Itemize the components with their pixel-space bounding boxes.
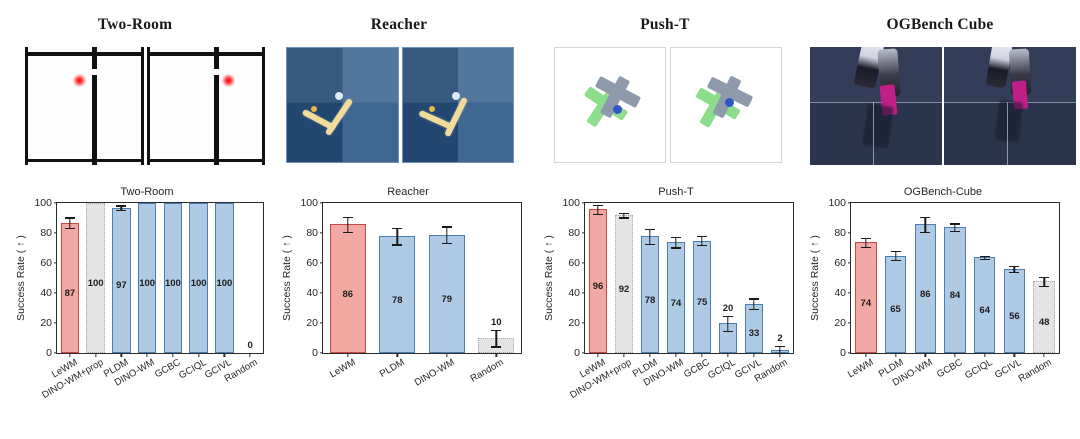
x-axis-label-gciql: GCIQL	[177, 357, 208, 381]
x-axis-label-gciql: GCIQL	[963, 357, 994, 381]
error-bar-cap	[392, 228, 402, 229]
error-bar	[753, 298, 754, 309]
error-bar-cap	[775, 346, 785, 347]
x-axis-label-pldm: PLDM	[378, 357, 407, 380]
y-axis-tick-mark	[320, 322, 324, 323]
bar-value-label: 100	[165, 278, 181, 289]
bar-value-label: 79	[441, 294, 452, 305]
x-axis-tick-mark	[597, 353, 598, 357]
x-axis-tick-mark	[1014, 353, 1015, 357]
chart-title: Two-Room	[24, 186, 270, 198]
goal-marker-icon	[73, 74, 86, 87]
bar-value-label: 78	[392, 295, 403, 306]
bar-value-label: 74	[671, 298, 682, 309]
error-bar-cap	[861, 247, 871, 248]
chart-title: Push-T	[552, 186, 800, 198]
y-axis-tick-mark	[320, 292, 324, 293]
x-axis-tick-mark	[925, 353, 926, 357]
cube-shadow	[994, 100, 1023, 143]
error-bar-cap	[1039, 277, 1049, 278]
error-bar-cap	[891, 251, 901, 252]
error-bar-cap	[749, 309, 759, 310]
x-axis-label-gciql: GCIQL	[706, 357, 737, 381]
y-axis-tick-mark	[848, 352, 852, 353]
error-bar-cap	[920, 217, 930, 218]
reacher-tip	[311, 106, 317, 112]
error-bar-cap	[980, 259, 990, 260]
x-axis-tick-mark	[623, 353, 624, 357]
bar-value-label: 84	[950, 290, 961, 301]
bar-value-label: 86	[342, 289, 353, 300]
bar-value-label: 10	[491, 317, 502, 328]
chart-title: OGBench-Cube	[814, 186, 1072, 198]
y-axis-tick-mark	[320, 262, 324, 263]
y-axis-tick-mark	[54, 352, 58, 353]
bar-value-label: 100	[88, 278, 104, 289]
reacher-tip	[429, 106, 435, 112]
x-axis-label-lewm: LeWM	[846, 357, 876, 380]
error-bar-cap	[491, 346, 501, 347]
y-axis-label: Success Rate ( ↑ )	[15, 235, 27, 321]
x-axis-tick-mark	[446, 353, 447, 357]
y-axis-tick-mark	[848, 262, 852, 263]
error-bar	[675, 237, 676, 248]
y-axis-label: Success Rate ( ↑ )	[543, 235, 555, 321]
maze-wall-top	[214, 47, 219, 69]
error-bar-cap	[891, 260, 901, 261]
bar-value-label: 87	[65, 288, 76, 299]
panel-push-t: Push-T	[530, 0, 800, 439]
bar-value-label: 100	[191, 278, 207, 289]
y-axis-label: Success Rate ( ↑ )	[281, 235, 293, 321]
y-axis-tick-mark	[582, 202, 586, 203]
media-two-room	[25, 47, 265, 165]
x-axis-tick-mark	[1043, 353, 1044, 357]
y-axis-tick-mark	[54, 322, 58, 323]
media-ogbench-cube	[810, 47, 1076, 165]
pusht-agent-dot	[613, 105, 622, 114]
x-axis-tick-mark	[69, 353, 70, 357]
error-bar-cap	[645, 229, 655, 230]
y-axis-tick-mark	[320, 202, 324, 203]
error-bar-cap	[723, 331, 733, 332]
x-axis-tick-mark	[172, 353, 173, 357]
error-bar-cap	[65, 217, 75, 218]
y-axis-tick-mark	[848, 322, 852, 323]
x-axis-tick-mark	[146, 353, 147, 357]
error-bar-cap	[749, 298, 759, 299]
panel-two-room: Two-Room Two-Room Success Rate ( ↑ )0204…	[0, 0, 270, 439]
x-axis-tick-mark	[727, 353, 728, 357]
error-bar-cap	[619, 217, 629, 218]
x-axis-tick-mark	[95, 353, 96, 357]
x-axis-label-dino-wm: DINO-WM	[412, 357, 456, 389]
pusht-agent-dot	[725, 98, 734, 107]
bar-value-label: 78	[645, 295, 656, 306]
error-bar-cap	[920, 232, 930, 233]
y-axis-tick-mark	[848, 232, 852, 233]
error-bar-cap	[491, 330, 501, 331]
reacher-link-lower	[419, 110, 454, 130]
error-bar-cap	[1039, 286, 1049, 287]
x-axis-tick-mark	[496, 353, 497, 357]
y-axis-tick-mark	[54, 292, 58, 293]
y-axis-tick-mark	[54, 202, 58, 203]
bar-value-label: 0	[247, 340, 252, 351]
figure-root: Two-Room Two-Room Success Rate ( ↑ )0204…	[0, 0, 1080, 439]
error-bar-cap	[671, 247, 681, 248]
x-axis-tick-mark	[249, 353, 250, 357]
error-bar-cap	[950, 231, 960, 232]
maze-rollout-right	[147, 47, 266, 165]
bar-value-label: 75	[697, 297, 708, 308]
maze-wall-middle	[214, 75, 219, 165]
error-bar	[727, 316, 728, 331]
panel-reacher: Reacher Reacher Success Rate ( ↑ )020406…	[268, 0, 530, 439]
reacher-joint	[335, 92, 343, 100]
x-axis-tick-mark	[397, 353, 398, 357]
x-axis-label-random: Random	[1017, 357, 1054, 385]
y-axis-tick-mark	[54, 232, 58, 233]
env-title-push-t: Push-T	[530, 16, 800, 34]
bar-value-label: 33	[749, 328, 760, 339]
x-axis-label-gcbc: GCBC	[682, 357, 712, 380]
env-title-reacher: Reacher	[268, 16, 530, 34]
bar-value-label: 48	[1039, 317, 1050, 328]
reacher-rollout-right	[402, 47, 515, 163]
x-axis-tick-mark	[779, 353, 780, 357]
cube-rollout-right	[944, 47, 1076, 165]
bar-value-label: 20	[723, 303, 734, 314]
error-bar-cap	[116, 205, 126, 206]
error-bar	[496, 330, 497, 347]
x-axis-label-lewm: LeWM	[328, 357, 358, 380]
goal-marker-icon	[222, 74, 235, 87]
env-title-ogbench-cube: OGBench Cube	[800, 16, 1080, 34]
bar-value-label: 96	[593, 281, 604, 292]
maze-rollout-left	[25, 47, 144, 165]
bar-value-label: 64	[979, 305, 990, 316]
error-bar-cap	[619, 213, 629, 214]
y-axis-tick-mark	[54, 262, 58, 263]
error-bar-cap	[343, 217, 353, 218]
error-bar-cap	[861, 238, 871, 239]
x-axis-label-gcbc: GCBC	[153, 357, 183, 380]
error-bar-cap	[65, 228, 75, 229]
x-axis-tick-mark	[198, 353, 199, 357]
media-push-t	[554, 47, 782, 163]
error-bar-cap	[697, 245, 707, 246]
x-axis-label-random: Random	[469, 357, 506, 385]
x-axis-tick-mark	[649, 353, 650, 357]
error-bar-cap	[980, 256, 990, 257]
x-axis-tick-mark	[895, 353, 896, 357]
error-bar	[649, 229, 650, 244]
reacher-rollout-left	[286, 47, 399, 163]
chart-title: Reacher	[290, 186, 526, 198]
error-bar-cap	[950, 223, 960, 224]
env-title-two-room: Two-Room	[0, 16, 270, 34]
bar-value-label: 65	[890, 304, 901, 315]
bar-value-label: 100	[216, 278, 232, 289]
error-bar-cap	[671, 237, 681, 238]
bar-value-label: 97	[116, 280, 127, 291]
error-bar-cap	[343, 232, 353, 233]
error-bar	[397, 228, 398, 245]
plot-area: Success Rate ( ↑ )02040608010086LeWM78PL…	[322, 202, 522, 354]
error-bar-cap	[723, 316, 733, 317]
bar-value-label: 74	[861, 298, 872, 309]
maze-wall-middle	[92, 75, 97, 165]
reacher-link-lower	[301, 109, 336, 131]
cube-shadow	[863, 103, 895, 148]
x-axis-tick-mark	[984, 353, 985, 357]
x-axis-tick-mark	[701, 353, 702, 357]
error-bar-cap	[697, 236, 707, 237]
error-bar	[347, 217, 348, 232]
plot-area: Success Rate ( ↑ )02040608010096LeWM92DI…	[584, 202, 794, 354]
y-axis-tick-mark	[320, 232, 324, 233]
maze-wall-top	[92, 47, 97, 69]
panel-ogbench-cube: OGBench Cube OGBench-Cube Success Rate (…	[800, 0, 1080, 439]
y-axis-tick-mark	[848, 202, 852, 203]
bar-value-label: 100	[139, 278, 155, 289]
error-bar	[446, 226, 447, 243]
x-axis-label-gcbc: GCBC	[935, 357, 965, 380]
error-bar	[925, 217, 926, 232]
y-axis-tick-mark	[848, 292, 852, 293]
y-axis-label: Success Rate ( ↑ )	[809, 235, 821, 321]
error-bar-cap	[593, 205, 603, 206]
cube-rollout-left	[810, 47, 942, 165]
x-axis-tick-mark	[865, 353, 866, 357]
media-reacher	[286, 47, 514, 163]
error-bar-cap	[645, 244, 655, 245]
error-bar-cap	[442, 226, 452, 227]
y-axis-tick-mark	[582, 352, 586, 353]
x-axis-tick-mark	[224, 353, 225, 357]
error-bar	[69, 217, 70, 228]
error-bar-cap	[593, 214, 603, 215]
y-axis-tick-mark	[320, 352, 324, 353]
plot-area: Success Rate ( ↑ )02040608010087LeWM100D…	[56, 202, 264, 354]
x-axis-tick-mark	[347, 353, 348, 357]
bar-value-label: 2	[777, 333, 782, 344]
bar-value-label: 92	[619, 284, 630, 295]
error-bar-cap	[442, 243, 452, 244]
pusht-rollout-left	[554, 47, 666, 163]
error-bar-cap	[1009, 266, 1019, 267]
y-axis-tick-mark	[582, 292, 586, 293]
x-axis-tick-mark	[675, 353, 676, 357]
bar-value-label: 86	[920, 289, 931, 300]
bar-value-label: 56	[1009, 311, 1020, 322]
x-axis-tick-mark	[954, 353, 955, 357]
x-axis-tick-mark	[753, 353, 754, 357]
plot-area: Success Rate ( ↑ )02040608010074LeWM65PL…	[850, 202, 1060, 354]
x-axis-tick-mark	[121, 353, 122, 357]
reacher-link-upper	[324, 98, 352, 136]
reacher-joint	[452, 92, 460, 100]
y-axis-tick-mark	[582, 322, 586, 323]
reacher-link-upper	[444, 97, 468, 137]
error-bar-cap	[1009, 272, 1019, 273]
error-bar-cap	[116, 210, 126, 211]
y-axis-tick-mark	[582, 232, 586, 233]
pusht-rollout-right	[670, 47, 782, 163]
y-axis-tick-mark	[582, 262, 586, 263]
error-bar-cap	[392, 244, 402, 245]
